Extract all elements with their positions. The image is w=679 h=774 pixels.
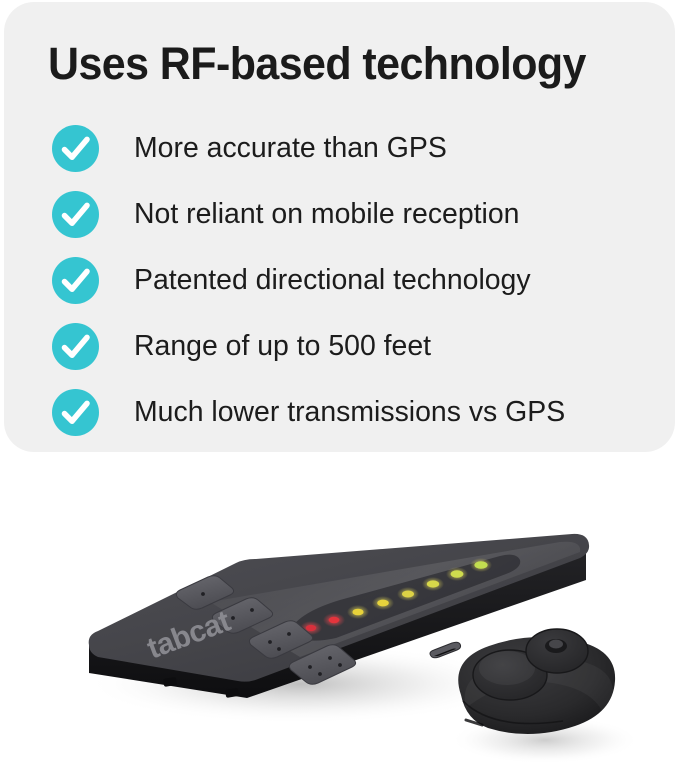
- check-circle-icon: [52, 257, 99, 304]
- check-circle-icon: [52, 125, 99, 172]
- button-dot: [201, 592, 205, 596]
- button-dot: [308, 665, 312, 669]
- product-photo: tabcat: [0, 452, 679, 774]
- product-photo-illustration: tabcat: [0, 452, 679, 774]
- list-item: Not reliant on mobile reception: [4, 181, 675, 247]
- page-title: Uses RF-based technology: [48, 38, 586, 90]
- led-3: [347, 605, 369, 619]
- led-6: [422, 577, 444, 591]
- button-dot: [318, 672, 322, 676]
- check-circle-icon: [52, 323, 99, 370]
- list-item-label: More accurate than GPS: [134, 131, 447, 165]
- button-dot: [231, 616, 235, 620]
- led-8: [470, 558, 492, 572]
- button-dot: [328, 656, 332, 660]
- list-item: Range of up to 500 feet: [4, 313, 675, 379]
- led-4: [372, 596, 394, 610]
- check-circle-icon: [52, 389, 99, 436]
- button-dot: [250, 608, 254, 612]
- led-7: [446, 567, 468, 581]
- tag-button-small[interactable]: [526, 629, 588, 673]
- check-circle-icon: [52, 191, 99, 238]
- feature-card: Uses RF-based technology More accurate t…: [4, 2, 675, 452]
- list-item: More accurate than GPS: [4, 115, 675, 181]
- list-item-label: Much lower transmissions vs GPS: [134, 395, 565, 429]
- list-item-label: Patented directional technology: [134, 263, 531, 297]
- led-5: [397, 587, 419, 601]
- list-item: Much lower transmissions vs GPS: [4, 379, 675, 445]
- benefit-list: More accurate than GPS Not reliant on mo…: [4, 115, 675, 445]
- list-item-label: Range of up to 500 feet: [134, 329, 431, 363]
- led-2: [323, 613, 345, 627]
- button-dot: [338, 663, 342, 667]
- button-dot: [277, 647, 281, 651]
- button-dot: [268, 640, 272, 644]
- list-item-label: Not reliant on mobile reception: [134, 197, 519, 231]
- button-dot: [287, 632, 291, 636]
- list-item: Patented directional technology: [4, 247, 675, 313]
